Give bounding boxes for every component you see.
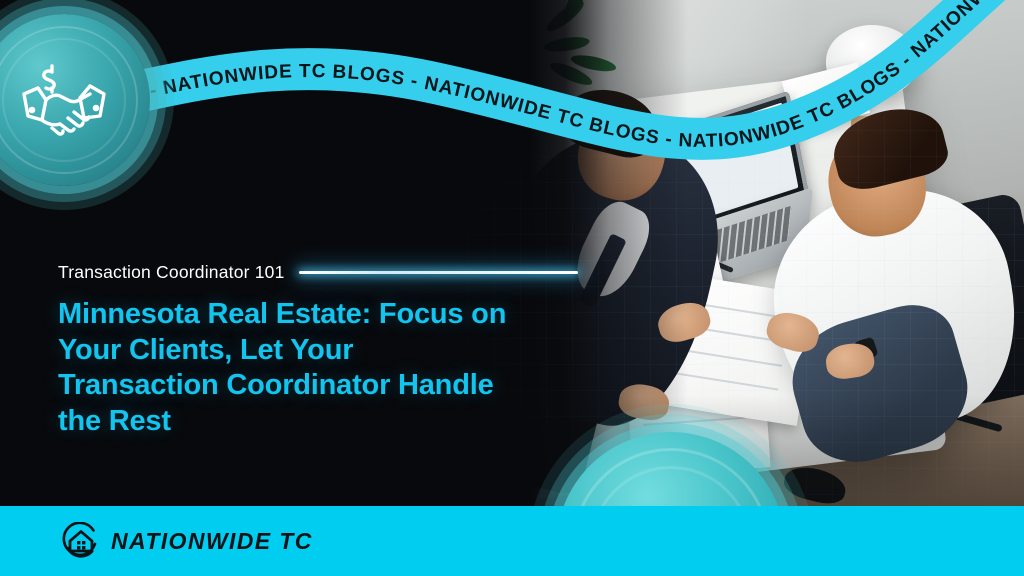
headline-line: the Rest bbox=[58, 405, 171, 437]
hero-photo bbox=[530, 0, 1024, 506]
headline-line: Transaction Coordinator Handle bbox=[58, 369, 494, 401]
nationwide-tc-house-logo-icon bbox=[62, 522, 100, 560]
headline-block: Transaction Coordinator 101 Minnesota Re… bbox=[58, 262, 578, 440]
eyebrow-label: Transaction Coordinator 101 bbox=[58, 262, 285, 283]
brand-logo[interactable]: NATIONWIDE TC bbox=[62, 522, 313, 560]
footer-bar: NATIONWIDE TC bbox=[0, 506, 1024, 576]
eyebrow-row: Transaction Coordinator 101 bbox=[58, 262, 578, 283]
page-title: Minnesota Real Estate: Focus on Your Cli… bbox=[58, 297, 578, 440]
headline-line: Your Clients, Let Your bbox=[58, 334, 353, 366]
handshake-dollar-icon bbox=[12, 58, 116, 142]
brand-name: NATIONWIDE TC bbox=[111, 528, 313, 555]
eyebrow-divider bbox=[299, 271, 578, 274]
handshake-badge bbox=[0, 14, 150, 186]
headline-line: Minnesota Real Estate: Focus on bbox=[58, 298, 506, 330]
blog-banner: NATIONWIDE TC BLOGS - NATIONWIDE TC BLOG… bbox=[0, 0, 1024, 576]
